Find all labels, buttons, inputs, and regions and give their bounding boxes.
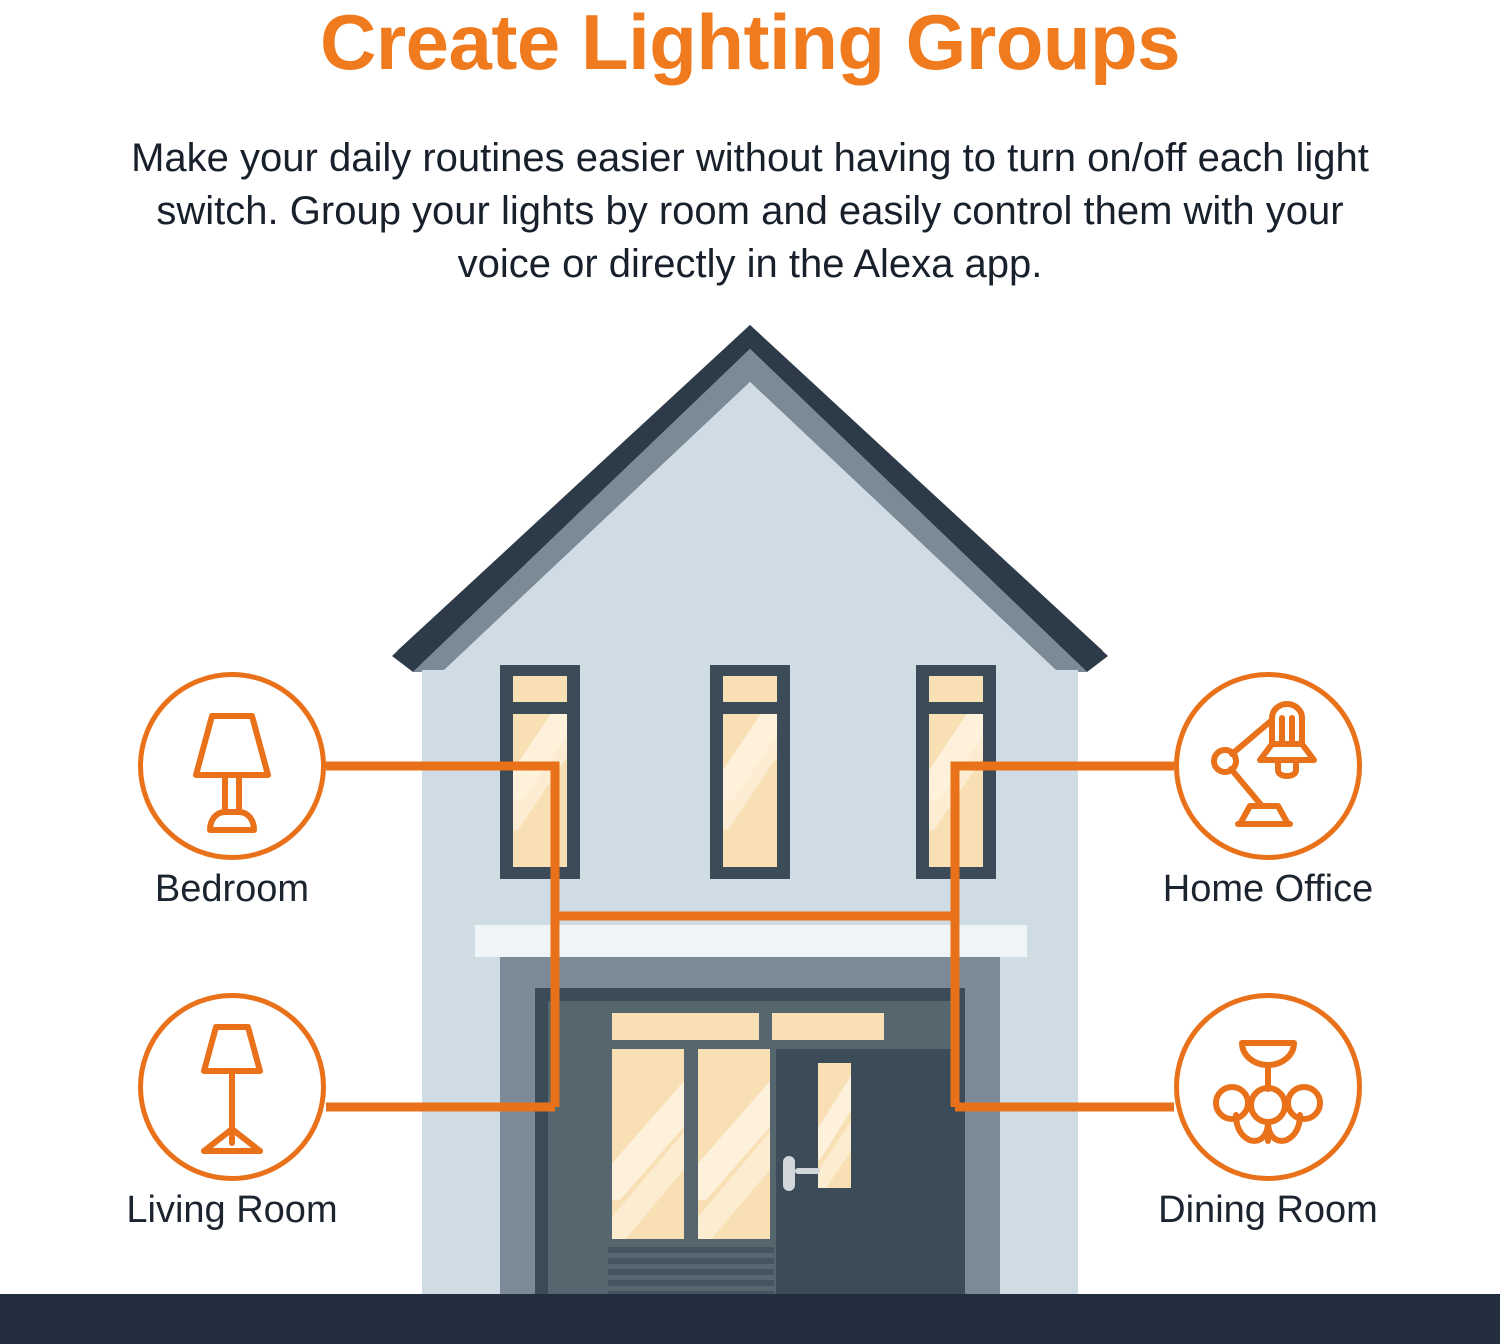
node-label: Bedroom	[78, 868, 386, 911]
node-label: Home Office	[1114, 868, 1422, 911]
node-label: Living Room	[78, 1189, 386, 1232]
desk-lamp-icon	[1174, 672, 1362, 860]
lighting-groups-infographic: Create Lighting Groups Make your daily r…	[0, 0, 1500, 1344]
door-transom-pane	[612, 1013, 759, 1040]
node-label: Dining Room	[1114, 1189, 1422, 1232]
door-transom-pane	[772, 1013, 884, 1040]
floor-lamp-icon	[138, 993, 326, 1181]
chandelier-icon	[1174, 993, 1362, 1181]
door-canopy	[475, 925, 1027, 957]
table-lamp-icon	[138, 672, 326, 860]
ground-bar	[0, 1294, 1500, 1344]
